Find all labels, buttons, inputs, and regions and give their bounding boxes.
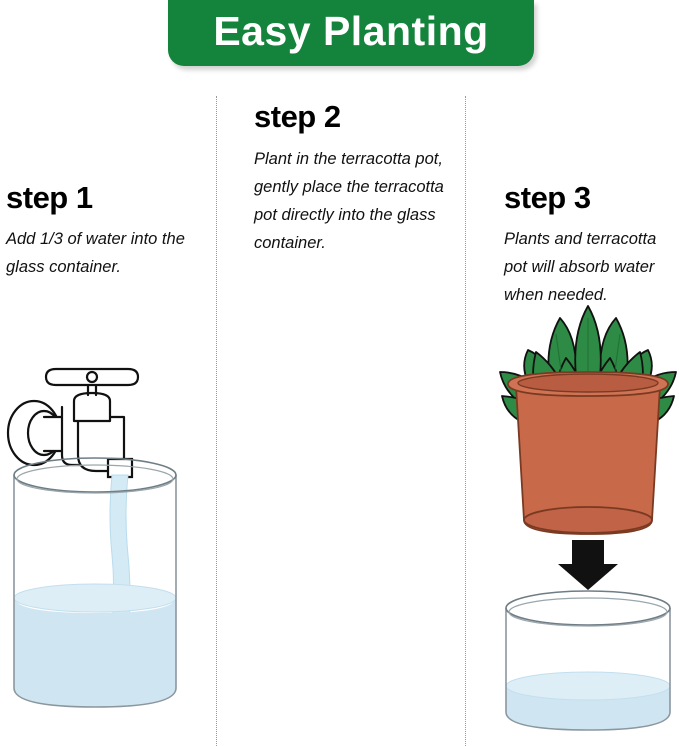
column-divider-right (465, 96, 466, 746)
glass-container-1 (14, 458, 176, 707)
down-arrow-icon (558, 540, 618, 590)
step-3-heading: step 3 (504, 180, 591, 216)
step-1-illustration (0, 355, 200, 746)
step-2-illustration (488, 288, 679, 746)
page-title: Easy Planting (213, 11, 488, 56)
step-1-description: Add 1/3 of water into the glass containe… (6, 225, 192, 281)
step-2-heading: step 2 (254, 99, 341, 135)
step-3-description: Plants and terracotta pot will absorb wa… (504, 225, 679, 309)
faucet-spout-nozzle (108, 459, 132, 477)
step-1-heading: step 1 (6, 180, 93, 216)
column-divider-left (216, 96, 217, 746)
step-2-description: Plant in the terracotta pot, gently plac… (254, 145, 446, 257)
faucet-icon (8, 369, 138, 471)
glass-container-2 (506, 591, 670, 730)
header-banner: Easy Planting (168, 0, 534, 66)
terracotta-pot-icon (508, 372, 668, 534)
